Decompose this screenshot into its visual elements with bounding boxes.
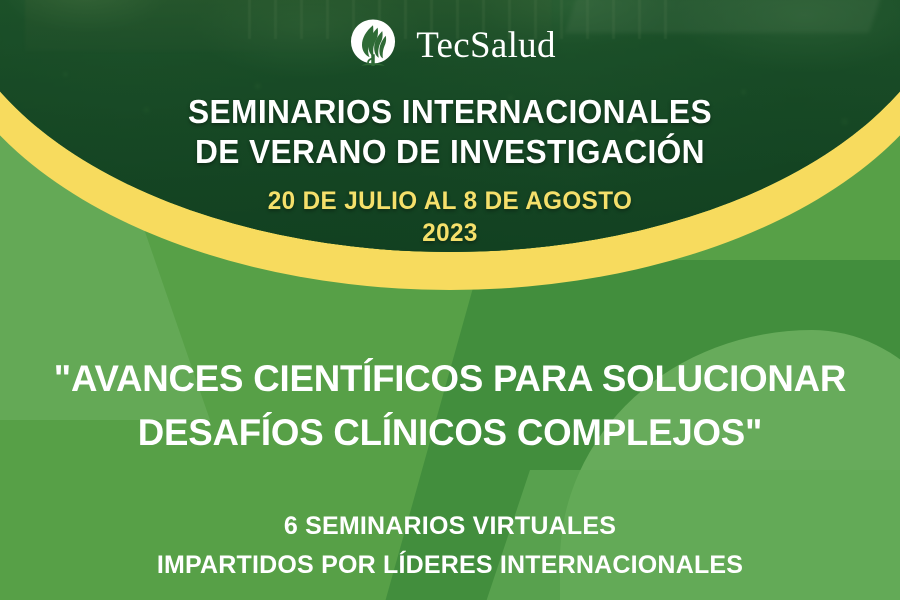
headline-line-1: "AVANCES CIENTÍFICOS PARA SOLUCIONAR xyxy=(5,352,896,406)
seminar-summary-line-2: IMPARTIDOS POR LÍDERES INTERNACIONALES xyxy=(0,546,900,585)
event-title: SEMINARIOS INTERNACIONALES DE VERANO DE … xyxy=(18,92,882,173)
headline-quote: "AVANCES CIENTÍFICOS PARA SOLUCIONAR DES… xyxy=(5,352,896,459)
poster-body: "AVANCES CIENTÍFICOS PARA SOLUCIONAR DES… xyxy=(0,352,900,585)
poster-canvas: TecSalud SEMINARIOS INTERNACIONALES DE V… xyxy=(0,0,900,600)
poster-header: TecSalud SEMINARIOS INTERNACIONALES DE V… xyxy=(0,0,900,249)
brand-name: TecSalud xyxy=(416,27,556,64)
seminar-summary: 6 SEMINARIOS VIRTUALES IMPARTIDOS POR LÍ… xyxy=(0,507,900,585)
event-dates-range: 20 DE JULIO AL 8 DE AGOSTO xyxy=(14,185,887,217)
event-title-line-2: DE VERANO DE INVESTIGACIÓN xyxy=(18,132,882,172)
event-dates: 20 DE JULIO AL 8 DE AGOSTO 2023 xyxy=(14,185,887,249)
brand-lockup: TecSalud xyxy=(0,0,900,74)
seminar-summary-line-1: 6 SEMINARIOS VIRTUALES xyxy=(0,507,900,546)
tecsalud-flame-circle-icon xyxy=(344,16,402,74)
headline-line-2: DESAFÍOS CLÍNICOS COMPLEJOS" xyxy=(5,406,896,460)
event-title-line-1: SEMINARIOS INTERNACIONALES xyxy=(18,92,882,132)
event-dates-year: 2023 xyxy=(14,217,887,249)
